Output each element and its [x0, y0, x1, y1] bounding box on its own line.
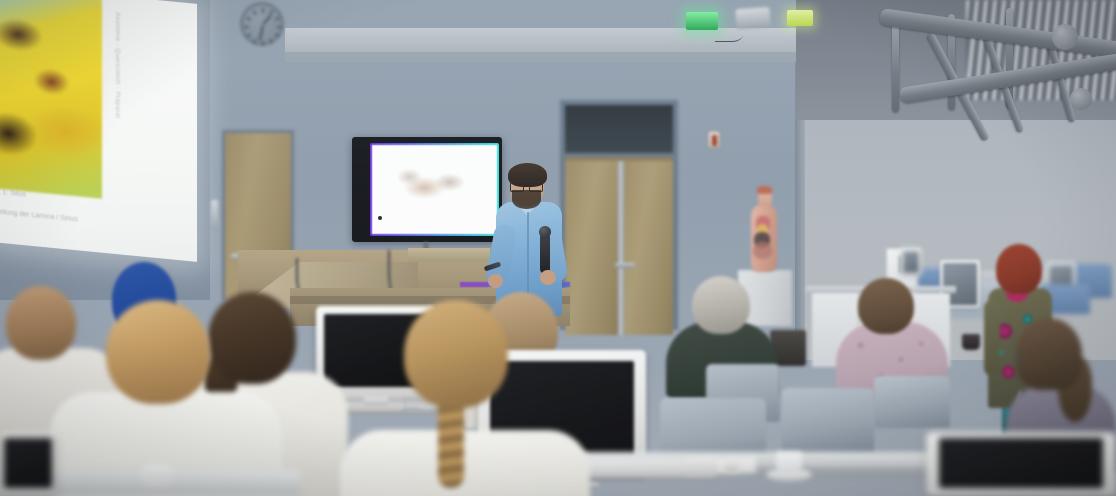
wall-mounted-display [352, 137, 502, 242]
monitor-screen [939, 438, 1102, 489]
attendee-body [340, 430, 590, 496]
clock-tick [262, 8, 264, 13]
grey-chair-4 [874, 376, 950, 428]
small-cup [140, 464, 174, 486]
door-push-bar-icon[interactable] [615, 263, 635, 268]
emergency-exit-sign-left [686, 12, 718, 30]
fire-extinguisher-sign-icon [708, 131, 720, 148]
display-slide-marker [378, 216, 382, 220]
emergency-exit-sign-right [787, 10, 813, 26]
door-transom-window [565, 105, 673, 157]
clock-tick [244, 27, 249, 29]
clock-tick [246, 17, 251, 21]
truss-vertical-1 [892, 22, 899, 112]
clock-minute-hand [259, 25, 264, 40]
clock-tick [253, 10, 257, 15]
truss-joint-node-1 [1052, 24, 1078, 50]
projection-caption-line-2: Darstellung der Lamina / Sinus [0, 207, 78, 223]
dark-mug [962, 334, 980, 350]
clock-tick [275, 33, 280, 37]
door-mullion [618, 161, 624, 335]
truss-joint-node-2 [1070, 88, 1092, 110]
clock-tick [253, 39, 257, 44]
clock-tick [277, 26, 282, 28]
attendee-head [404, 300, 508, 408]
workstation-monitor-3 [926, 432, 1116, 496]
attendee-head [858, 278, 914, 334]
clock-tick [275, 17, 280, 21]
torso-organ-intestine [753, 242, 772, 259]
ceiling-cable [715, 24, 743, 42]
presenter-right-hand [540, 270, 556, 285]
clock-tick [270, 39, 274, 44]
anatomical-torso-model [744, 188, 784, 272]
presenter-beard [512, 190, 541, 209]
handheld-microphone [540, 232, 550, 274]
attendee-head [1016, 318, 1082, 390]
background-monitor-screen [903, 251, 919, 273]
background-monitor-2 [900, 248, 922, 276]
glasses-icon [510, 181, 543, 189]
attendee-head [692, 276, 750, 334]
projection-vertical-caption: Anatomie · Querschnitt · Präparat [114, 12, 120, 119]
torso-head-cap [757, 186, 772, 194]
standing-woman-arm [984, 300, 1000, 376]
clock-tick [246, 34, 251, 38]
workstation-monitor-4 [0, 432, 56, 496]
wall-projection: Anatomie · Querschnitt · Präparat Abb. 1… [0, 0, 197, 262]
attendee-head [106, 300, 210, 404]
projection-anatomy-image [0, 0, 102, 199]
clock-tick [263, 41, 265, 46]
grey-chair-3 [782, 388, 874, 454]
light-switch[interactable] [211, 200, 218, 230]
ceiling-soffit-shadow [285, 52, 805, 62]
lectern-work-surface [408, 248, 490, 262]
wall-clock [240, 2, 284, 46]
presenter-left-hand [488, 274, 503, 288]
display-screen [372, 145, 497, 234]
coffee-cup [776, 452, 802, 474]
attendee-braided-woman [360, 300, 570, 496]
standing-woman-hair [996, 244, 1042, 294]
mouse-2[interactable] [724, 462, 740, 473]
attendee-purple-top [1006, 318, 1116, 448]
lecture-hall-photo: Anatomie · Querschnitt · Präparat Abb. 1… [0, 0, 1116, 496]
monitor-screen [4, 438, 52, 489]
clock-hour-hand [262, 15, 271, 25]
